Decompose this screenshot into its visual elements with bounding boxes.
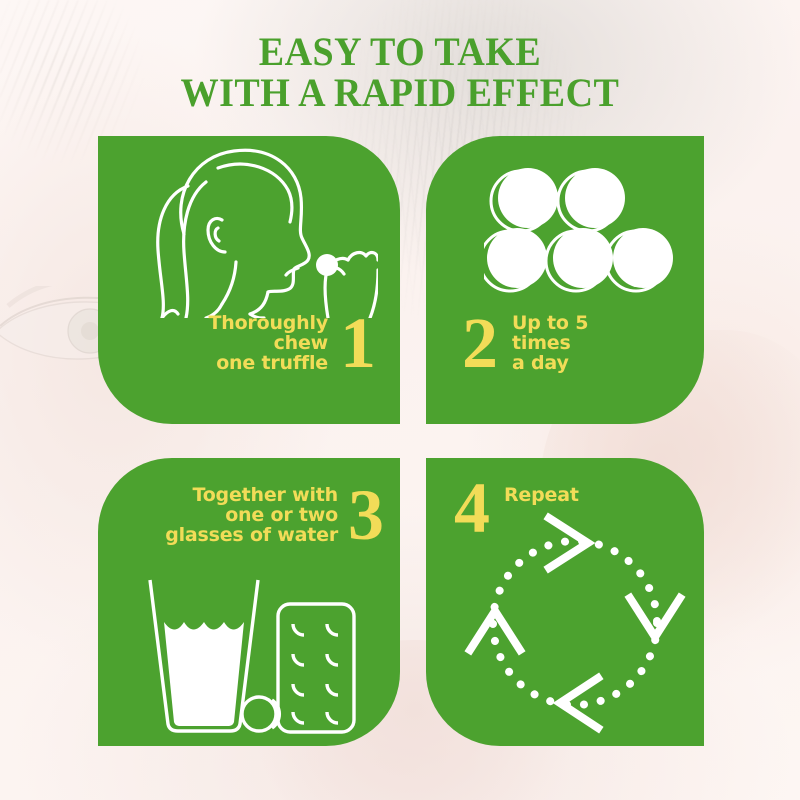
step-card-4[interactable]: 4 Repeat — [426, 458, 704, 746]
repeat-cycle-icon — [464, 510, 686, 736]
glass-of-water-and-blister-pack-icon — [138, 576, 368, 734]
step-1-number: 1 — [340, 315, 376, 373]
step-3-text: Together with one or two glasses of wate… — [112, 486, 384, 546]
woman-chewing-tablet-icon — [122, 142, 378, 318]
step-4-caption: Repeat — [490, 480, 684, 506]
page-title: EASY TO TAKE WITH A RAPID EFFECT — [20, 32, 780, 114]
step-card-3[interactable]: Together with one or two glasses of wate… — [98, 458, 400, 746]
title-line-1: EASY TO TAKE — [20, 32, 780, 73]
title-line-2: WITH A RAPID EFFECT — [20, 73, 780, 114]
steps-grid: Thoroughly chew one truffle 1 — [98, 136, 704, 746]
step-2-text: 2 Up to 5 times a day — [462, 314, 692, 374]
step-card-2[interactable]: 2 Up to 5 times a day — [426, 136, 704, 424]
infographic-poster: EASY TO TAKE WITH A RAPID EFFECT — [0, 0, 800, 800]
step-3-caption: Together with one or two glasses of wate… — [112, 486, 348, 546]
step-2-caption: Up to 5 times a day — [498, 314, 692, 374]
step-1-text: Thoroughly chew one truffle 1 — [120, 314, 376, 374]
step-3-number: 3 — [348, 487, 384, 545]
step-card-1[interactable]: Thoroughly chew one truffle 1 — [98, 136, 400, 424]
step-2-number: 2 — [462, 315, 498, 373]
step-1-caption: Thoroughly chew one truffle — [120, 314, 340, 374]
five-tablets-icon — [484, 164, 674, 294]
